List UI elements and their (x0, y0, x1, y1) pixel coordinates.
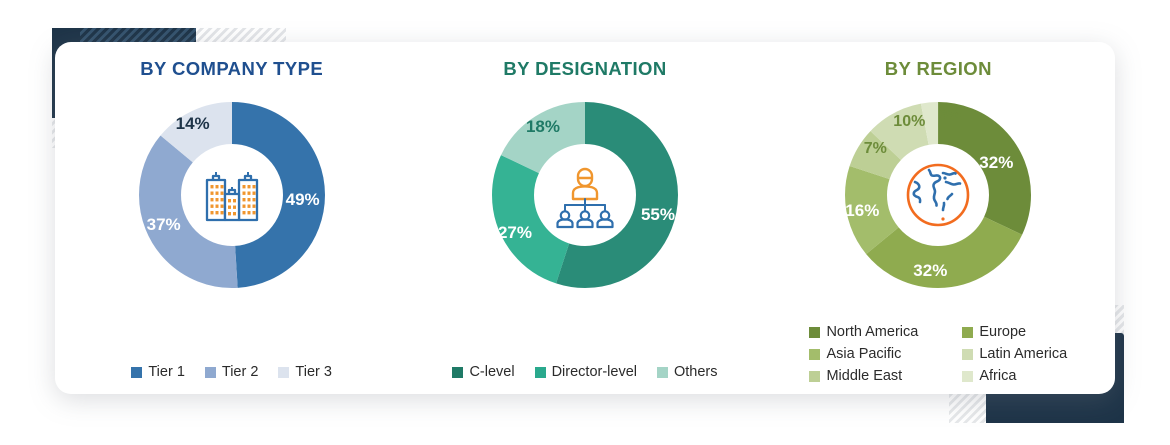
slice-label-director-level: 27% (498, 223, 532, 243)
infographic-card: BY COMPANY TYPE 49% 37% 14% (55, 42, 1115, 394)
panel-title-region: BY REGION (762, 58, 1115, 80)
legend-item-tier-1[interactable]: Tier 1 (131, 364, 185, 380)
donut-chart-company-type: 49% 37% 14% (55, 94, 408, 296)
legend-label-africa: Africa (979, 368, 1016, 384)
legend-label-north-america: North America (826, 324, 918, 340)
slice-label-middle-east: 7% (864, 140, 887, 158)
panel-region: BY REGION 32% 32% 16% 7% 10% 3% (762, 42, 1115, 394)
legend-region: North America Europe Asia Pacific Latin … (762, 324, 1115, 394)
panel-title-company-type: BY COMPANY TYPE (55, 58, 408, 80)
slice-label-north-america: 32% (979, 153, 1013, 173)
legend-label-asia-pacific: Asia Pacific (826, 346, 901, 362)
corner-accent-bar-horizontal-br (986, 393, 1124, 423)
legend-swatch-africa (962, 371, 973, 382)
legend-label-latin-america: Latin America (979, 346, 1067, 362)
globe-icon (899, 156, 977, 234)
legend-swatch-director-level (535, 367, 546, 378)
legend-label-others: Others (674, 364, 718, 380)
legend-swatch-europe (962, 327, 973, 338)
legend-label-tier-1: Tier 1 (148, 364, 185, 380)
legend-label-europe: Europe (979, 324, 1026, 340)
legend-item-tier-3[interactable]: Tier 3 (278, 364, 332, 380)
legend-label-tier-3: Tier 3 (295, 364, 332, 380)
legend-swatch-north-america (809, 327, 820, 338)
donut-chart-region: 32% 32% 16% 7% 10% 3% (762, 94, 1115, 296)
legend-swatch-tier-2 (205, 367, 216, 378)
slice-label-tier-2: 37% (147, 215, 181, 235)
legend-swatch-c-level (452, 367, 463, 378)
slice-label-tier-3: 14% (176, 114, 210, 134)
legend-item-africa[interactable]: Africa (962, 368, 1067, 384)
legend-label-tier-2: Tier 2 (222, 364, 259, 380)
legend-swatch-middle-east (809, 371, 820, 382)
legend-swatch-tier-1 (131, 367, 142, 378)
legend-item-director-level[interactable]: Director-level (535, 364, 637, 380)
slice-label-others: 18% (526, 117, 560, 137)
slice-label-c-level: 55% (641, 205, 675, 225)
panel-title-designation: BY DESIGNATION (408, 58, 761, 80)
slice-label-tier-1: 49% (286, 190, 320, 210)
slice-label-latin-america: 10% (893, 113, 925, 131)
legend-label-director-level: Director-level (552, 364, 637, 380)
legend-company-type: Tier 1 Tier 2 Tier 3 (55, 364, 408, 394)
office-buildings-icon (195, 158, 269, 232)
slice-label-asia-pacific: 16% (845, 201, 879, 221)
legend-item-middle-east[interactable]: Middle East (809, 368, 918, 384)
org-chart-people-icon (547, 157, 623, 233)
legend-item-c-level[interactable]: C-level (452, 364, 514, 380)
legend-item-latin-america[interactable]: Latin America (962, 346, 1067, 362)
legend-item-asia-pacific[interactable]: Asia Pacific (809, 346, 918, 362)
panel-designation: BY DESIGNATION 55% 27% 18% (408, 42, 761, 394)
legend-item-tier-2[interactable]: Tier 2 (205, 364, 259, 380)
legend-item-north-america[interactable]: North America (809, 324, 918, 340)
legend-item-others[interactable]: Others (657, 364, 718, 380)
legend-swatch-tier-3 (278, 367, 289, 378)
legend-item-europe[interactable]: Europe (962, 324, 1067, 340)
legend-swatch-latin-america (962, 349, 973, 360)
legend-label-c-level: C-level (469, 364, 514, 380)
legend-swatch-others (657, 367, 668, 378)
panel-company-type: BY COMPANY TYPE 49% 37% 14% (55, 42, 408, 394)
slice-label-africa: 3% (939, 106, 961, 123)
slice-label-europe: 32% (913, 261, 947, 281)
legend-label-middle-east: Middle East (826, 368, 902, 384)
donut-chart-designation: 55% 27% 18% (408, 94, 761, 296)
legend-designation: C-level Director-level Others (408, 364, 761, 394)
legend-swatch-asia-pacific (809, 349, 820, 360)
